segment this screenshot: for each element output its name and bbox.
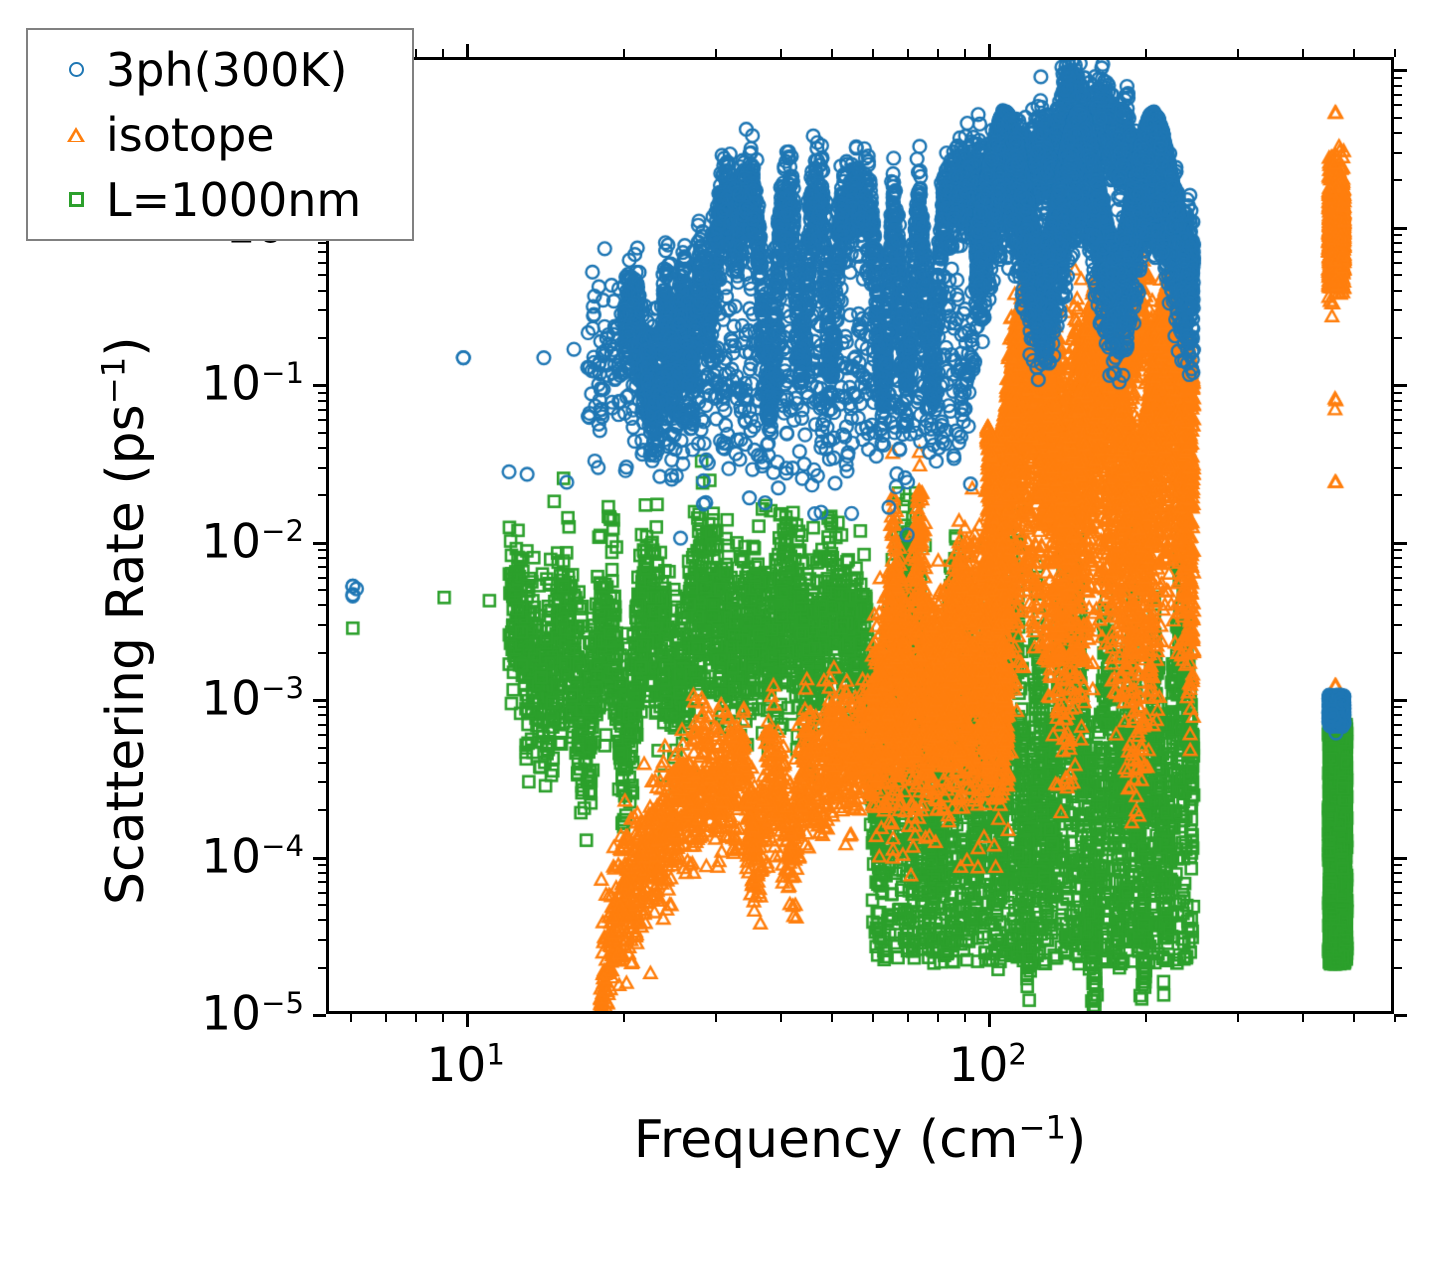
y-tick-major-right xyxy=(1394,857,1407,860)
y-tick-minor-right xyxy=(1394,624,1402,626)
y-tick-minor xyxy=(318,494,326,496)
x-tick-label: 101 xyxy=(427,1038,505,1093)
y-tick-minor xyxy=(318,714,326,716)
y-tick-minor-right xyxy=(1394,419,1402,421)
y-tick-minor xyxy=(318,624,326,626)
x-tick-minor xyxy=(1302,1014,1304,1022)
y-tick-major-right xyxy=(1394,227,1407,230)
y-tick-minor-right xyxy=(1394,309,1402,311)
y-tick-minor-right xyxy=(1394,747,1402,749)
y-tick-minor xyxy=(318,724,326,726)
x-tick-minor-top xyxy=(937,49,939,57)
y-tick-minor-right xyxy=(1394,939,1402,941)
y-tick-minor-right xyxy=(1394,262,1402,264)
y-tick-minor-right xyxy=(1394,400,1402,402)
x-tick-major xyxy=(466,1014,469,1027)
y-tick-minor xyxy=(318,566,326,568)
y-tick-minor-right xyxy=(1394,392,1402,394)
y-tick-minor-right xyxy=(1394,919,1402,921)
x-tick-minor xyxy=(1353,1014,1355,1022)
y-tick-minor-right xyxy=(1394,494,1402,496)
legend-item-2[interactable]: L=1000nm xyxy=(28,167,412,232)
y-axis-title: Scattering Rate (ps−1) xyxy=(96,336,156,905)
x-tick-minor-top xyxy=(907,49,909,57)
y-tick-minor xyxy=(318,781,326,783)
x-tick-minor-top xyxy=(1353,49,1355,57)
x-tick-major-top xyxy=(466,44,469,57)
x-tick-minor-top xyxy=(715,49,717,57)
x-tick-minor-top xyxy=(1302,49,1304,57)
tick-frame xyxy=(326,57,1394,1014)
y-tick-minor xyxy=(318,274,326,276)
y-tick-minor xyxy=(318,919,326,921)
circle-open-icon xyxy=(54,62,98,77)
y-tick-minor-right xyxy=(1394,872,1402,874)
y-tick-major-right xyxy=(1394,542,1407,545)
y-tick-minor-right xyxy=(1394,337,1402,339)
x-tick-minor-top xyxy=(872,49,874,57)
y-tick-minor-right xyxy=(1394,557,1402,559)
x-tick-minor-top xyxy=(1237,49,1239,57)
y-tick-minor xyxy=(318,762,326,764)
y-tick-label: 10−5 xyxy=(0,987,304,1042)
square-open-icon xyxy=(54,192,98,207)
y-tick-minor-right xyxy=(1394,724,1402,726)
y-tick-major xyxy=(313,857,326,860)
x-tick-minor xyxy=(415,1014,417,1022)
x-tick-minor-top xyxy=(1394,49,1396,57)
y-tick-minor xyxy=(318,549,326,551)
x-tick-minor-top xyxy=(442,49,444,57)
y-tick-minor xyxy=(318,447,326,449)
y-tick-minor-right xyxy=(1394,409,1402,411)
x-tick-label: 102 xyxy=(949,1038,1027,1093)
y-tick-minor xyxy=(318,881,326,883)
y-tick-minor-right xyxy=(1394,652,1402,654)
y-tick-major xyxy=(313,1014,326,1017)
y-tick-minor-right xyxy=(1394,132,1402,134)
y-tick-major xyxy=(313,542,326,545)
x-tick-minor xyxy=(715,1014,717,1022)
y-tick-minor-right xyxy=(1394,589,1402,591)
x-tick-major xyxy=(988,1014,991,1027)
y-tick-minor-right xyxy=(1394,604,1402,606)
y-tick-minor-right xyxy=(1394,809,1402,811)
y-tick-minor xyxy=(318,557,326,559)
y-tick-minor-right xyxy=(1394,104,1402,106)
x-tick-minor xyxy=(937,1014,939,1022)
y-tick-minor-right xyxy=(1394,714,1402,716)
x-tick-minor xyxy=(350,1014,352,1022)
x-tick-minor-top xyxy=(964,49,966,57)
y-tick-minor-right xyxy=(1394,432,1402,434)
y-tick-minor xyxy=(318,652,326,654)
y-tick-minor xyxy=(318,747,326,749)
y-tick-minor xyxy=(318,809,326,811)
y-tick-minor xyxy=(318,419,326,421)
x-tick-minor xyxy=(1394,1014,1396,1022)
legend-item-1[interactable]: isotope xyxy=(28,102,412,167)
x-tick-minor-top xyxy=(415,49,417,57)
x-tick-minor xyxy=(623,1014,625,1022)
legend-label-0: 3ph(300K) xyxy=(106,43,347,97)
y-tick-minor xyxy=(318,392,326,394)
x-tick-minor-top xyxy=(831,49,833,57)
y-tick-minor-right xyxy=(1394,762,1402,764)
y-tick-minor xyxy=(318,892,326,894)
x-tick-minor xyxy=(385,1014,387,1022)
x-tick-major-top xyxy=(988,44,991,57)
y-tick-minor xyxy=(318,309,326,311)
y-tick-minor-right xyxy=(1394,274,1402,276)
y-tick-minor-right xyxy=(1394,447,1402,449)
y-tick-minor-right xyxy=(1394,290,1402,292)
y-tick-minor xyxy=(318,409,326,411)
y-tick-minor-right xyxy=(1394,152,1402,154)
figure: 10110010−110−210−310−410−5101102 Frequen… xyxy=(0,0,1455,1265)
y-tick-major-right xyxy=(1394,69,1407,72)
y-tick-minor-right xyxy=(1394,734,1402,736)
x-tick-minor-top xyxy=(623,49,625,57)
y-tick-minor xyxy=(318,337,326,339)
y-tick-minor xyxy=(318,604,326,606)
y-tick-minor-right xyxy=(1394,904,1402,906)
y-tick-minor-right xyxy=(1394,467,1402,469)
y-tick-minor-right xyxy=(1394,117,1402,119)
y-tick-minor-right xyxy=(1394,566,1402,568)
y-tick-minor xyxy=(318,242,326,244)
y-tick-minor xyxy=(318,967,326,969)
y-tick-minor-right xyxy=(1394,94,1402,96)
y-tick-minor xyxy=(318,864,326,866)
y-tick-minor-right xyxy=(1394,179,1402,181)
y-tick-minor-right xyxy=(1394,85,1402,87)
y-tick-minor-right xyxy=(1394,967,1402,969)
y-tick-minor-right xyxy=(1394,881,1402,883)
y-tick-minor-right xyxy=(1394,234,1402,236)
x-tick-minor xyxy=(442,1014,444,1022)
y-tick-major-right xyxy=(1394,384,1407,387)
y-tick-minor xyxy=(318,290,326,292)
legend-label-2: L=1000nm xyxy=(106,173,361,227)
triangle-open-icon xyxy=(54,127,98,142)
y-tick-minor xyxy=(318,939,326,941)
y-tick-minor xyxy=(318,706,326,708)
x-tick-minor xyxy=(1145,1014,1147,1022)
y-tick-major xyxy=(313,384,326,387)
x-tick-minor xyxy=(780,1014,782,1022)
x-tick-minor-top xyxy=(1145,49,1147,57)
x-tick-minor xyxy=(1237,1014,1239,1022)
legend-item-0[interactable]: 3ph(300K) xyxy=(28,37,412,102)
y-tick-minor-right xyxy=(1394,864,1402,866)
y-tick-minor xyxy=(318,400,326,402)
y-tick-minor-right xyxy=(1394,706,1402,708)
y-tick-minor-right xyxy=(1394,892,1402,894)
y-tick-major xyxy=(313,699,326,702)
y-tick-minor xyxy=(318,262,326,264)
y-tick-minor xyxy=(318,432,326,434)
x-tick-minor xyxy=(831,1014,833,1022)
y-tick-minor xyxy=(318,734,326,736)
x-tick-minor xyxy=(964,1014,966,1022)
y-tick-minor xyxy=(318,589,326,591)
y-tick-minor xyxy=(318,251,326,253)
y-tick-minor-right xyxy=(1394,577,1402,579)
legend-box[interactable]: 3ph(300K) isotope L=1000nm xyxy=(26,28,414,241)
y-tick-minor-right xyxy=(1394,549,1402,551)
x-axis-title: Frequency (cm−1) xyxy=(326,1110,1394,1170)
y-tick-major-right xyxy=(1394,699,1407,702)
y-tick-minor-right xyxy=(1394,242,1402,244)
y-tick-minor-right xyxy=(1394,251,1402,253)
x-tick-minor-top xyxy=(780,49,782,57)
y-tick-minor xyxy=(318,577,326,579)
legend-label-1: isotope xyxy=(106,108,275,162)
y-tick-minor xyxy=(318,872,326,874)
y-tick-minor-right xyxy=(1394,781,1402,783)
y-tick-minor xyxy=(318,467,326,469)
x-tick-minor xyxy=(907,1014,909,1022)
x-tick-minor xyxy=(872,1014,874,1022)
y-tick-minor-right xyxy=(1394,77,1402,79)
y-tick-minor xyxy=(318,904,326,906)
